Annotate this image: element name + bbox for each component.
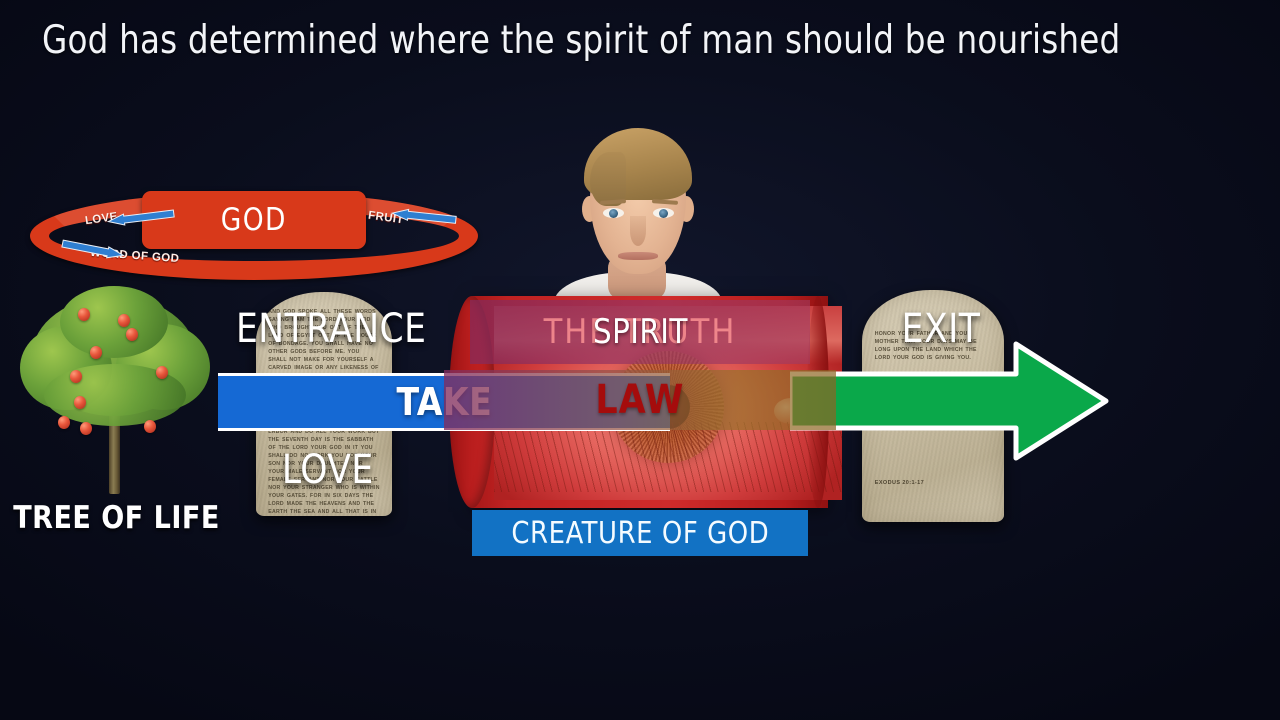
tablet-scripture-reference: EXODUS 20:1-17	[875, 480, 924, 486]
tree-foliage	[60, 286, 168, 358]
apple-icon	[90, 346, 102, 359]
law-band: LAW	[444, 370, 836, 430]
portrait-hair	[584, 128, 692, 200]
green-arrow-icon	[790, 338, 1110, 464]
portrait-nose	[630, 216, 646, 246]
law-label: LAW	[596, 377, 685, 423]
apple-icon	[58, 416, 70, 429]
portrait-eye-right	[653, 208, 674, 218]
apple-icon	[126, 328, 138, 341]
god-box-label: GOD	[221, 202, 287, 238]
apple-icon	[74, 396, 86, 409]
tree-of-life-label: TREE OF LIFE	[13, 500, 220, 536]
page-title: God has determined where the spirit of m…	[42, 18, 1120, 63]
god-cycle-diagram: GOD LOVE FRUIT WORD OF GOD	[30, 192, 478, 280]
creature-of-god-bar: CREATURE OF GOD	[472, 510, 808, 556]
apple-icon	[144, 420, 156, 433]
god-box: GOD	[142, 191, 366, 249]
love-label: LOVE	[282, 447, 374, 493]
portrait-eye-left	[603, 208, 624, 218]
apple-icon	[156, 366, 168, 379]
apple-icon	[78, 308, 90, 321]
spirit-text: SPIRIT	[593, 312, 688, 352]
apple-icon	[70, 370, 82, 383]
portrait-mouth	[618, 252, 658, 260]
apple-tree-image	[14, 286, 214, 494]
slide-canvas: God has determined where the spirit of m…	[0, 0, 1280, 720]
entrance-label: ENTRANCE	[236, 306, 426, 352]
exit-label: EXIT	[902, 306, 981, 352]
spirit-band: THE TRUTH SPIRIT	[470, 300, 810, 364]
apple-icon	[80, 422, 92, 435]
creature-of-god-label: CREATURE OF GOD	[511, 516, 769, 551]
apple-icon	[118, 314, 130, 327]
